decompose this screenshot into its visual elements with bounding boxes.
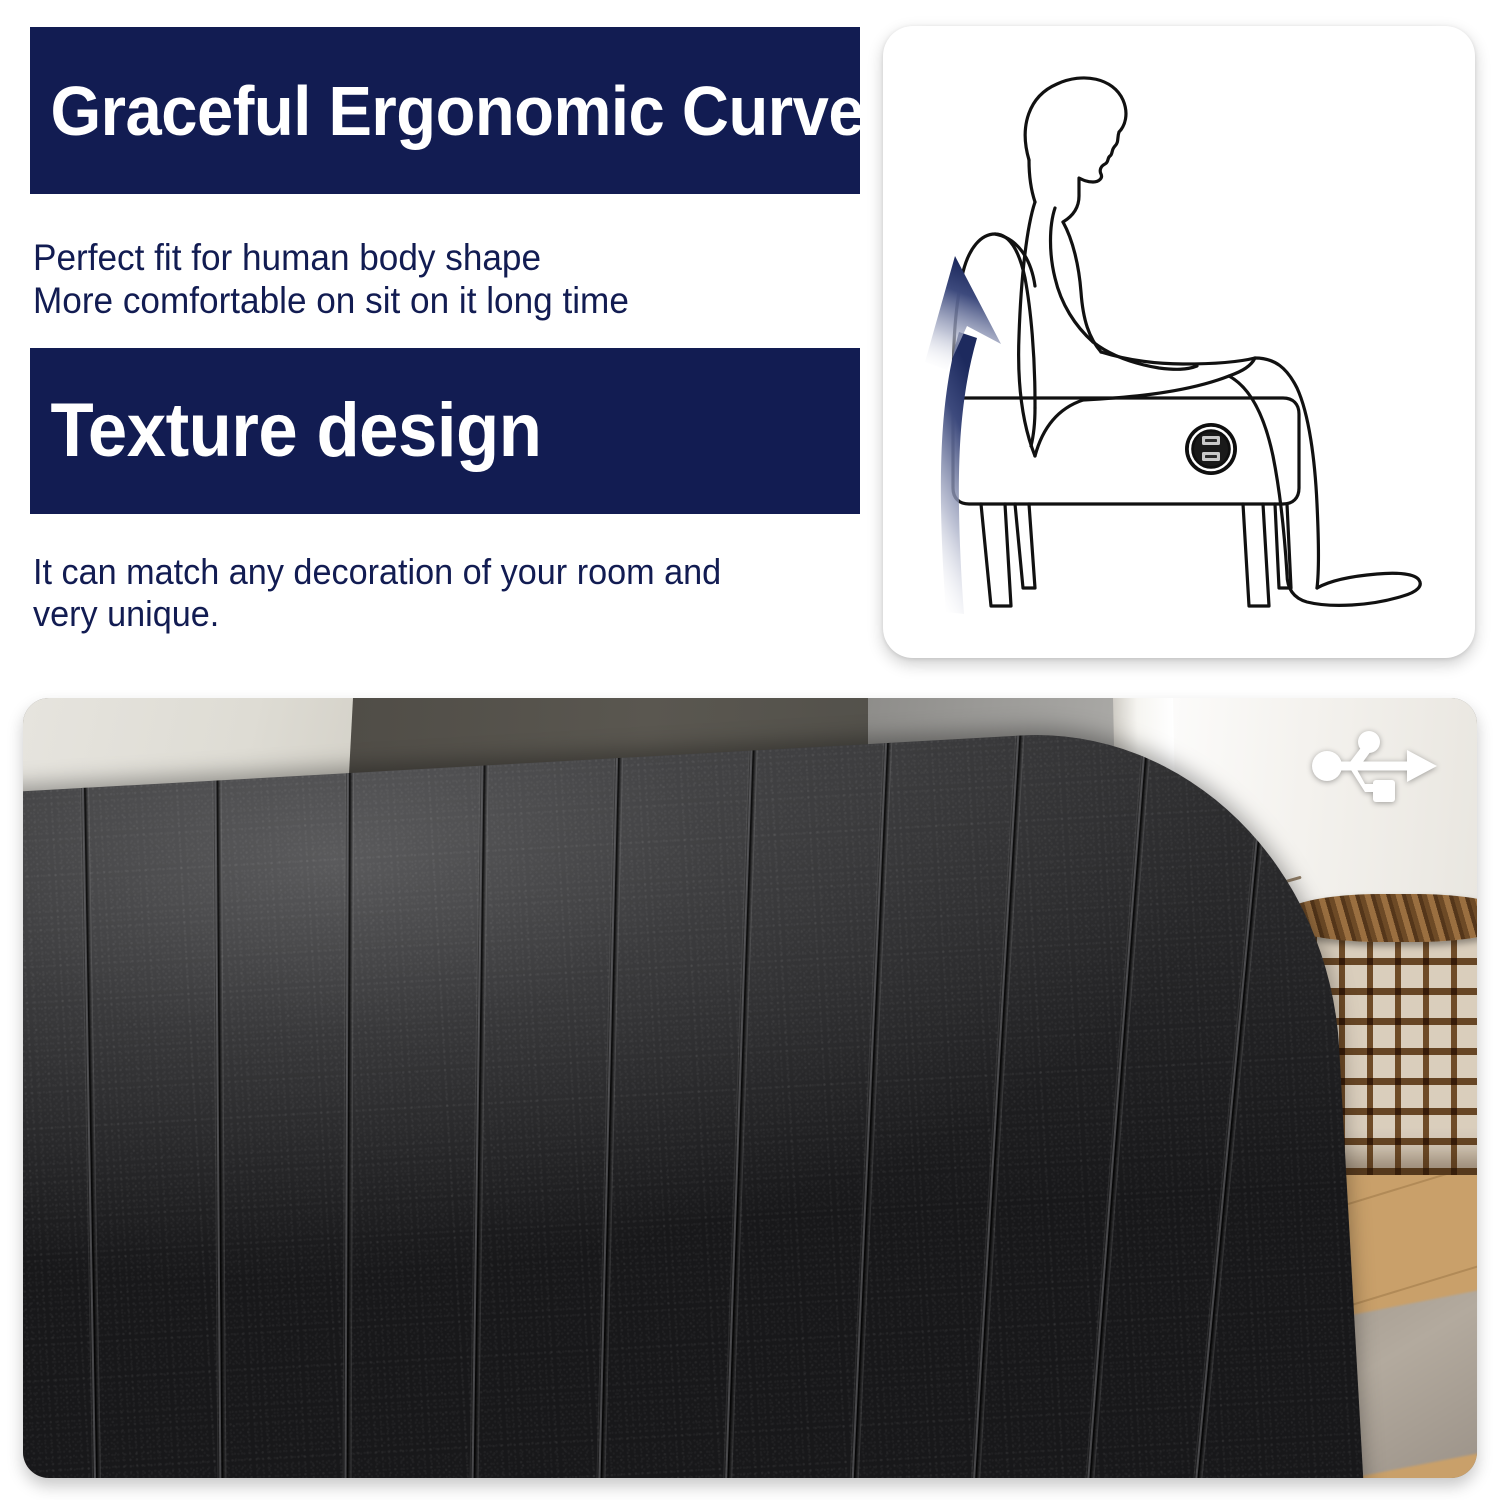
seated-person-on-bench-diagram	[883, 26, 1475, 658]
dual-usb-port-module	[1185, 423, 1237, 475]
subtext-block-2: It can match any decoration of your room…	[33, 551, 812, 635]
banner-texture-design: Texture design	[30, 348, 860, 514]
product-closeup-photo	[23, 698, 1477, 1478]
subtext-1-line-1: Perfect fit for human body shape	[33, 237, 812, 280]
text-column: Graceful Ergonomic Curve Perfect fit for…	[0, 0, 880, 680]
usb-icon	[1311, 726, 1439, 804]
banner-title-1: Graceful Ergonomic Curve	[30, 76, 860, 146]
subtext-2-line-1: It can match any decoration of your room…	[33, 551, 812, 593]
subtext-block-1: Perfect fit for human body shape More co…	[33, 237, 812, 323]
curved-up-arrow-icon	[925, 256, 1001, 614]
banner-graceful-ergonomic-curve: Graceful Ergonomic Curve	[30, 27, 860, 194]
subtext-1-line-2: More comfortable on sit on it long time	[33, 280, 812, 323]
banner-title-2: Texture design	[30, 393, 541, 469]
ergonomic-diagram-card	[883, 26, 1475, 658]
black-leather-backrest	[23, 719, 1369, 1478]
subtext-2-line-2: very unique.	[33, 593, 812, 635]
